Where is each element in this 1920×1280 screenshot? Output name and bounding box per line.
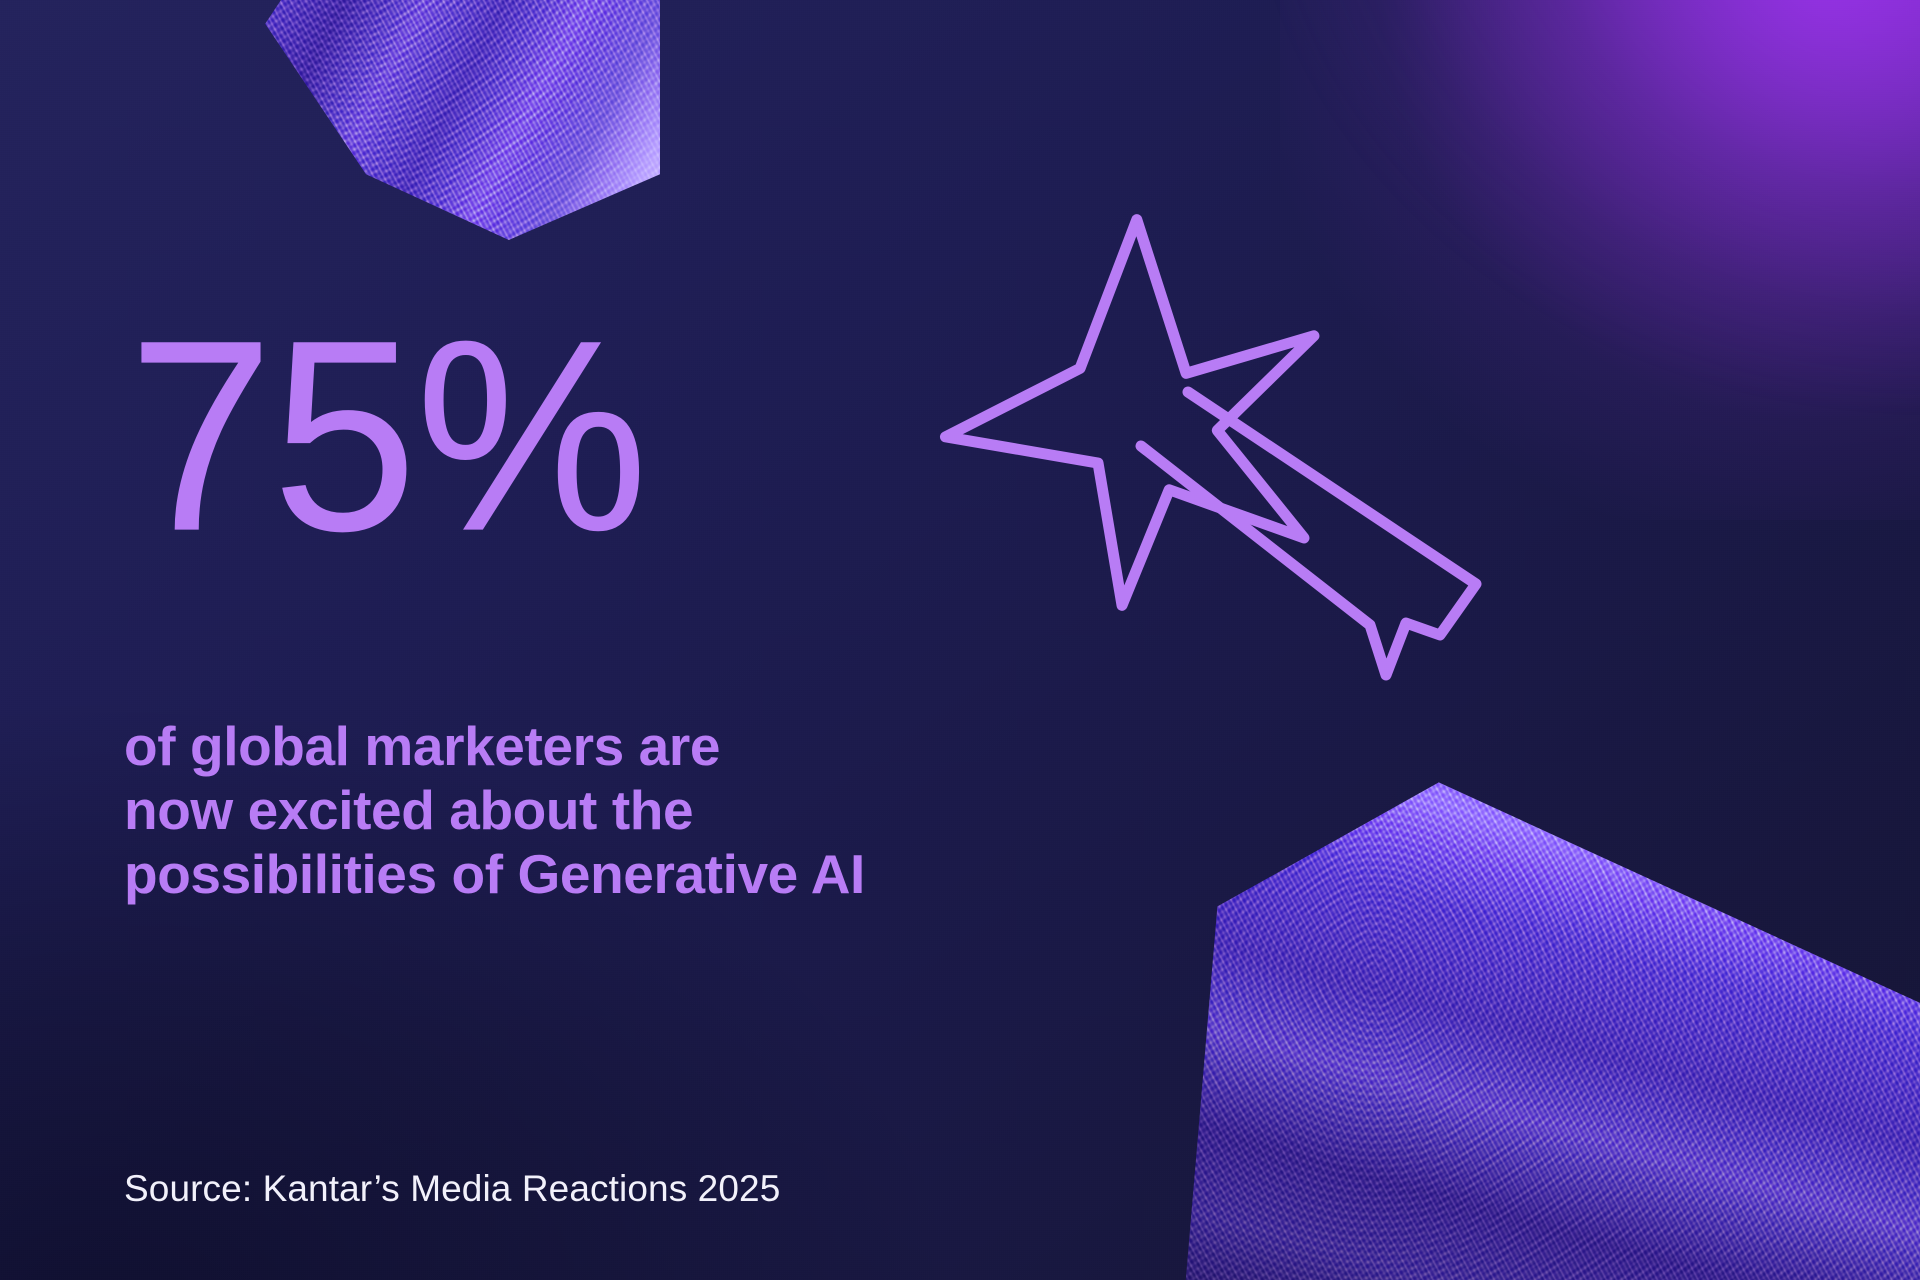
source-attribution: Source: Kantar’s Media Reactions 2025: [124, 1168, 780, 1210]
headline-line-3: possibilities of Generative AI: [124, 842, 865, 906]
stat-card: 75% of global marketers are now excited …: [0, 0, 1920, 1280]
headline-text: of global marketers are now excited abou…: [124, 714, 865, 906]
content-layer: 75% of global marketers are now excited …: [0, 0, 1920, 1280]
headline-line-1: of global marketers are: [124, 714, 865, 778]
headline-line-2: now excited about the: [124, 778, 865, 842]
stat-value: 75%: [128, 330, 646, 543]
